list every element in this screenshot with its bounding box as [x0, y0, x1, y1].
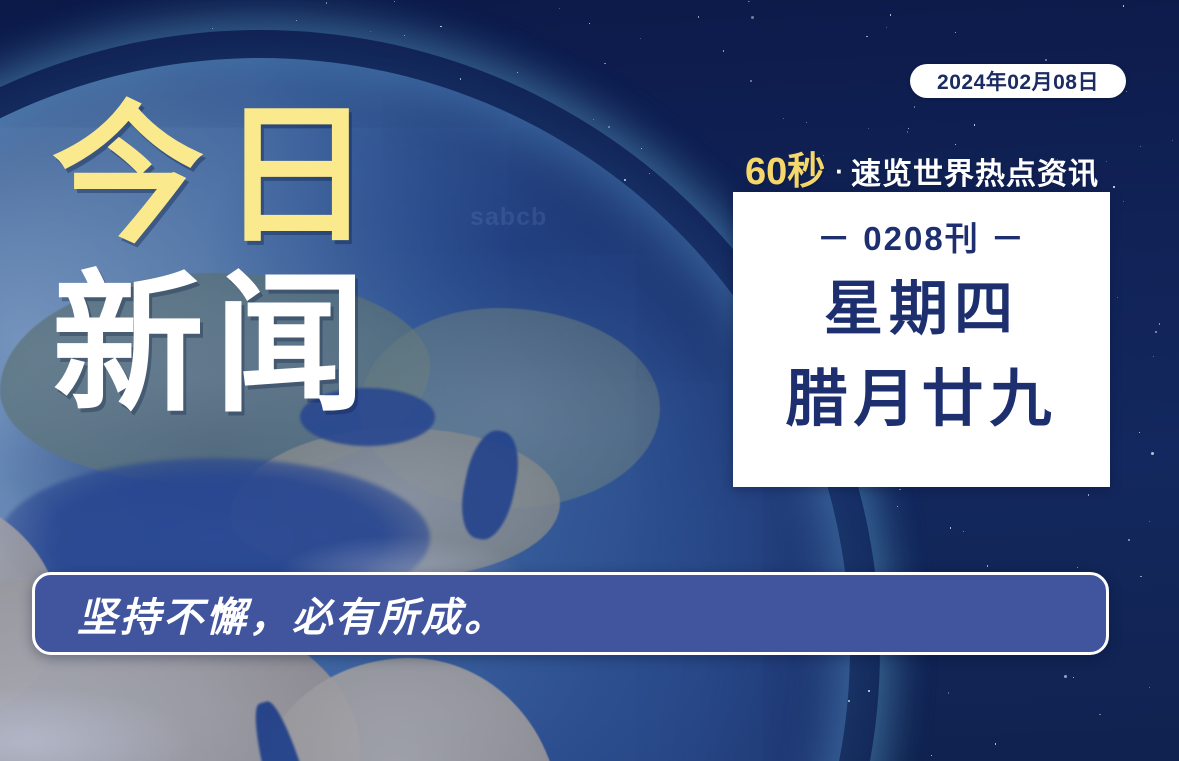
quote-text: 坚持不懈，必有所成。: [35, 585, 507, 643]
date-badge: 2024年02月08日: [910, 64, 1126, 98]
brand-title-line1: 今日: [52, 96, 388, 257]
tagline-separator-icon: ·: [835, 156, 844, 187]
lunar-date-label: 腊月廿九: [785, 369, 1057, 431]
date-badge-label: 2024年02月08日: [937, 66, 1099, 96]
date-info-card: － 0208刊 － 星期四 腊月廿九: [733, 192, 1110, 487]
tagline: 60秒 · 速览世界热点资讯: [745, 140, 1099, 195]
issue-number: － 0208刊 －: [817, 212, 1026, 260]
weekday-label: 星期四: [824, 280, 1019, 339]
brand-title: 今日 新闻: [52, 96, 388, 426]
tagline-duration: 60秒: [745, 140, 825, 195]
tagline-description: 速览世界热点资讯: [851, 149, 1099, 193]
brand-title-line2: 新闻: [52, 265, 388, 426]
news-poster: sabcb 今日 新闻 2024年02月08日 60秒 · 速览世界热点资讯 －…: [0, 0, 1179, 761]
quote-banner: 坚持不懈，必有所成。: [32, 572, 1109, 655]
